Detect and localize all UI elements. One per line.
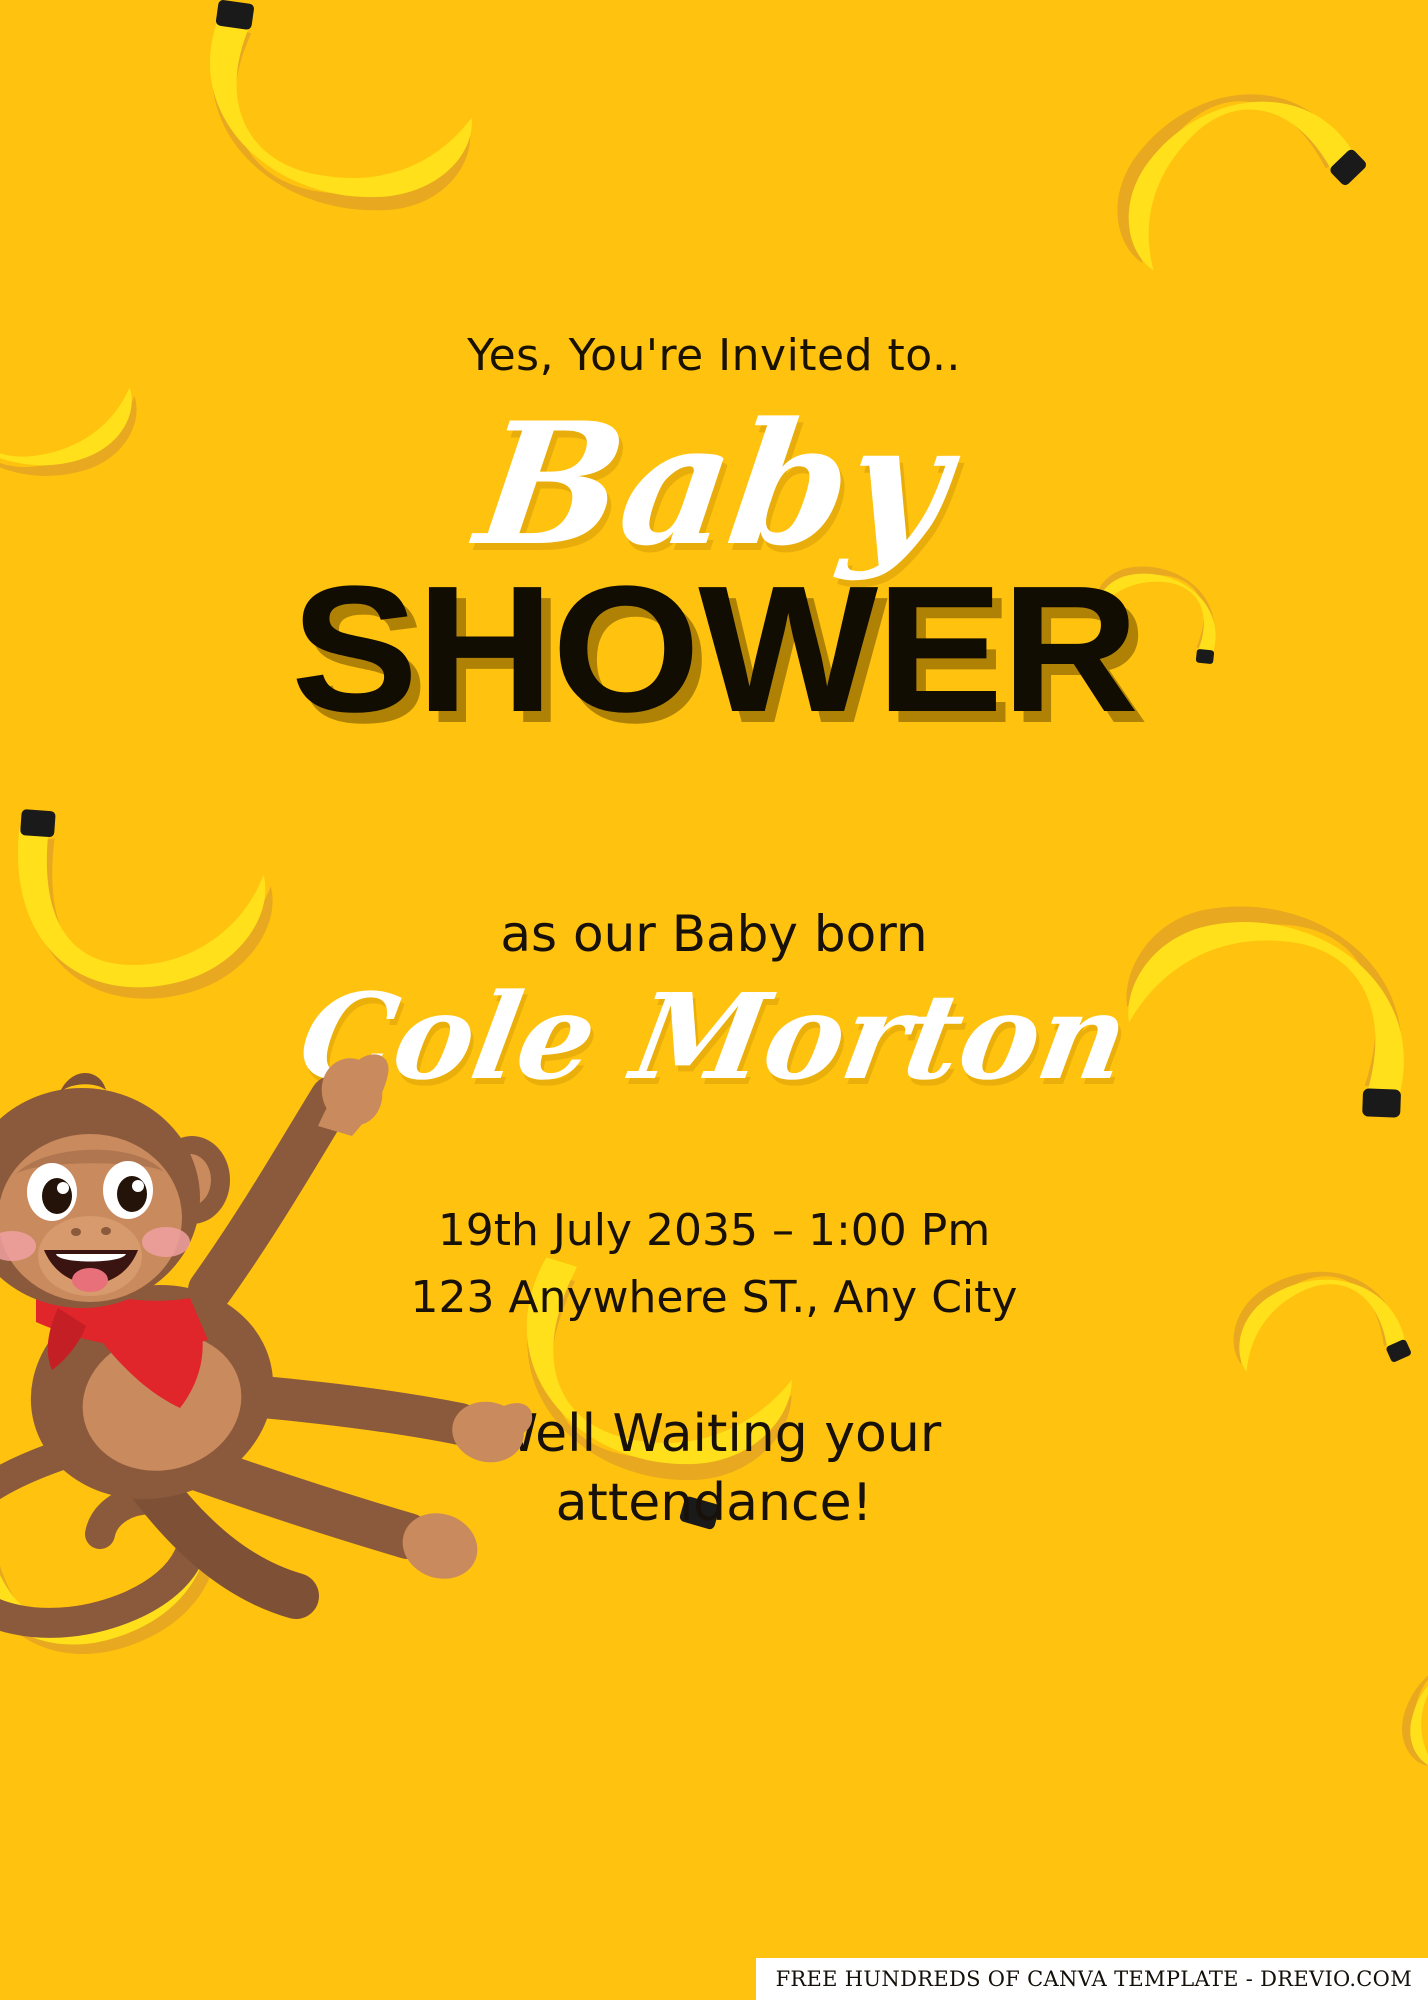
invitation-card: Yes, You're Invited to.. Baby SHOWER as … [0,0,1428,2000]
banana-decoration [1217,1235,1424,1395]
banana-decoration [0,330,149,511]
eyebrow-text: Yes, You're Invited to.. [0,330,1428,381]
footer-text: FREE HUNDREDS OF CANVA TEMPLATE - DREVIO… [776,1967,1412,1991]
title-script: Baby [0,400,1428,568]
banana-decoration [0,775,301,1035]
banana-decoration [1063,15,1387,306]
banana-decoration [1082,537,1248,673]
footer-watermark-bar: FREE HUNDREDS OF CANVA TEMPLATE - DREVIO… [756,1958,1428,2000]
monkey-illustration [0,1040,700,1660]
banana-decoration [134,0,506,283]
banana-decoration [1096,839,1428,1141]
banana-decoration [1367,1614,1428,1786]
